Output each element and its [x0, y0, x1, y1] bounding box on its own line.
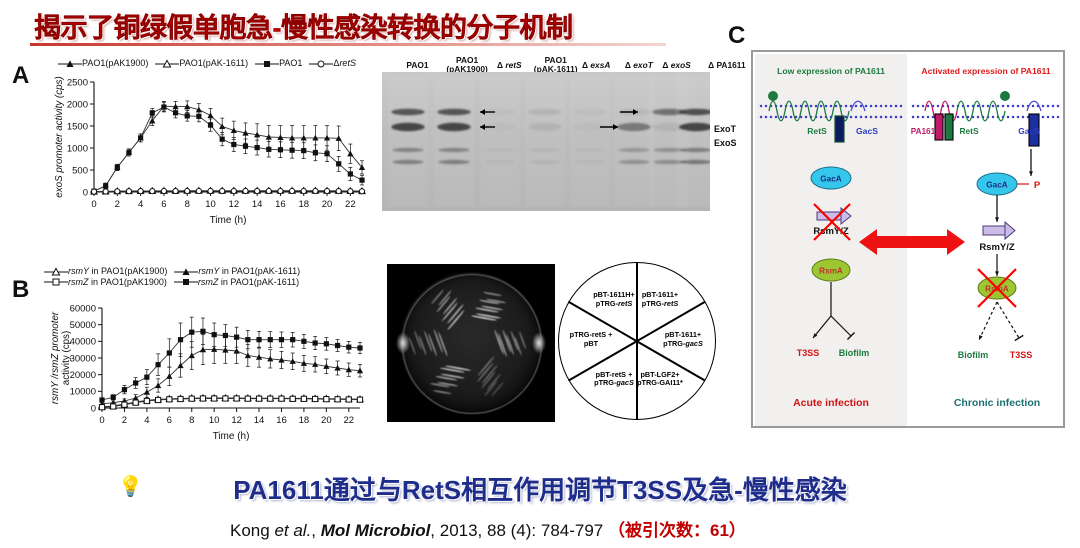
svg-text:Biofilm: Biofilm: [958, 350, 989, 360]
conclusion-title: PA1611通过与RetS相互作用调节T3SS及急-慢性感染: [120, 470, 960, 504]
svg-text:T3SS: T3SS: [1010, 350, 1033, 360]
svg-text:20: 20: [322, 199, 333, 210]
legend-item: rsmZ in PAO1(pAK-1611): [174, 277, 299, 288]
svg-text:2: 2: [115, 199, 120, 210]
legend-item: rsmY in PAO1(pAK1900): [44, 266, 167, 277]
svg-text:0: 0: [91, 199, 96, 210]
svg-text:60000: 60000: [70, 303, 96, 314]
svg-text:16: 16: [275, 199, 286, 210]
svg-text:50000: 50000: [70, 320, 96, 331]
svg-text:10: 10: [205, 199, 216, 210]
svg-text:Chronic infection: Chronic infection: [954, 397, 1040, 409]
svg-text:Acute infection: Acute infection: [793, 397, 869, 409]
svg-text:Biofilm: Biofilm: [839, 348, 870, 358]
svg-text:14: 14: [252, 199, 263, 210]
citation-rest: , 2013, 88 (4): 784-797: [430, 521, 608, 540]
chart-b-legend: rsmY in PAO1(pAK1900)rsmY in PAO1(pAK-16…: [44, 266, 384, 287]
citation-etal: et al.: [274, 521, 311, 540]
dish-rim: [402, 274, 542, 414]
gel-bands: [382, 72, 710, 211]
svg-text:6: 6: [167, 415, 172, 426]
citation-sep: ,: [311, 521, 320, 540]
svg-text:RsmY/Z: RsmY/Z: [979, 242, 1015, 253]
svg-text:1000: 1000: [67, 143, 88, 154]
legend-label: PAO1(pAK1900): [82, 58, 148, 68]
svg-text:RsmA: RsmA: [819, 267, 843, 276]
gel-band-labels: ExoTExoS: [714, 124, 737, 152]
panel-label-b: B: [12, 276, 29, 304]
svg-text:10000: 10000: [70, 387, 96, 398]
center-double-arrow-icon: [857, 222, 967, 262]
svg-text:GacS: GacS: [856, 126, 878, 136]
title-underline: [30, 43, 666, 46]
model-diagram: Low expression of PA1611 RetSGacSGacARsm…: [751, 50, 1065, 428]
legend-item: rsmZ in PAO1(pAK1900): [44, 277, 167, 288]
sector-label: pBT-retS +pTRG-gacS: [579, 371, 649, 388]
svg-text:6: 6: [161, 199, 166, 210]
gel-band-label: ExoT: [714, 124, 737, 134]
legend-item: ΔretS: [309, 58, 356, 69]
panel-label-c: C: [728, 22, 745, 50]
svg-text:20000: 20000: [70, 370, 96, 381]
gel-lane-label: Δ exoS: [653, 61, 701, 70]
legend-label: rsmZ in PAO1(pAK-1611): [198, 277, 299, 287]
svg-text:40000: 40000: [70, 337, 96, 348]
svg-text:PA1611: PA1611: [911, 127, 940, 136]
svg-text:Time (h): Time (h): [210, 215, 247, 226]
svg-text:8: 8: [185, 199, 190, 210]
svg-text:RetS: RetS: [959, 126, 978, 136]
svg-text:GacA: GacA: [986, 181, 1007, 190]
svg-text:exoS promoter activity (cps): exoS promoter activity (cps): [54, 76, 65, 197]
svg-text:18: 18: [299, 415, 310, 426]
svg-text:GacA: GacA: [820, 175, 841, 184]
legend-item: PAO1(pAK1900): [58, 58, 148, 69]
svg-text:2000: 2000: [67, 99, 88, 110]
chart-a-exos-promoter: 050010001500200025000246810121416182022T…: [48, 74, 378, 234]
svg-text:20: 20: [321, 415, 332, 426]
svg-text:18: 18: [298, 199, 309, 210]
slide-canvas: 揭示了铜绿假单胞急-慢性感染转换的分子机制 A PAO1(pAK1900)PAO…: [0, 0, 1080, 548]
citation-count: （被引次数：61）: [608, 521, 746, 540]
legend-label: PAO1: [279, 58, 302, 68]
legend-label: ΔretS: [333, 58, 356, 68]
petri-dish: [400, 272, 542, 414]
svg-text:2500: 2500: [67, 77, 88, 88]
svg-text:rsmY /rsmZ promoter: rsmY /rsmZ promoter: [50, 311, 61, 404]
svg-text:activity (cps): activity (cps): [61, 331, 72, 385]
legend-label: rsmZ in PAO1(pAK1900): [68, 277, 167, 287]
sector-label: pTRG-retS +pBT: [556, 331, 626, 348]
chart-b-rsmyz-promoter: 0100002000030000400005000060000024681012…: [40, 300, 380, 448]
svg-text:22: 22: [343, 415, 354, 426]
gel-lane-label: PAO1: [393, 61, 441, 70]
legend-item: PAO1: [255, 58, 302, 69]
page-title: 揭示了铜绿假单胞急-慢性感染转换的分子机制: [34, 6, 654, 42]
legend-item: rsmY in PAO1(pAK-1611): [174, 266, 300, 277]
svg-text:4: 4: [144, 415, 149, 426]
svg-text:T3SS: T3SS: [797, 348, 820, 358]
citation-line: Kong et al., Mol Microbiol, 2013, 88 (4)…: [230, 516, 1070, 541]
svg-text:0: 0: [99, 415, 104, 426]
gel-lane-label: Δ exsA: [572, 61, 620, 70]
sector-label: pBT-1611H+pTRG-retS: [579, 291, 649, 308]
chart-a-legend: PAO1(pAK1900)PAO1(pAK-1611)PAO1ΔretS: [58, 58, 378, 69]
plate-sector-key: pBT-1611+pTRG-retSpBT-1611+pTRG-gacSpBT-…: [558, 262, 720, 424]
svg-text:Time (h): Time (h): [213, 431, 250, 442]
svg-text:GacS: GacS: [1018, 126, 1040, 136]
citation-author: Kong: [230, 521, 274, 540]
svg-text:0: 0: [91, 403, 96, 414]
citation-journal: Mol Microbiol: [321, 521, 431, 540]
panel-label-a: A: [12, 62, 29, 90]
gel-band-label: ExoS: [714, 138, 737, 148]
svg-text:22: 22: [345, 199, 356, 210]
svg-text:30000: 30000: [70, 353, 96, 364]
svg-text:12: 12: [229, 199, 240, 210]
svg-text:4: 4: [138, 199, 143, 210]
legend-label: PAO1(pAK-1611): [179, 58, 248, 68]
svg-text:14: 14: [254, 415, 265, 426]
svg-text:P: P: [1034, 180, 1041, 191]
svg-text:1500: 1500: [67, 121, 88, 132]
legend-label: rsmY in PAO1(pAK1900): [68, 266, 167, 276]
svg-text:0: 0: [83, 187, 88, 198]
svg-text:12: 12: [231, 415, 242, 426]
svg-text:10: 10: [209, 415, 220, 426]
legend-item: PAO1(pAK-1611): [155, 58, 248, 69]
petri-dish-photo: [387, 264, 555, 422]
svg-text:500: 500: [72, 165, 88, 176]
sector-label: pBT-1611+pTRG-gacS: [648, 331, 718, 348]
svg-text:RetS: RetS: [807, 126, 827, 136]
svg-text:16: 16: [276, 415, 287, 426]
sds-page-gel-image: [382, 72, 710, 211]
gel-lane-label: Δ PA1611: [697, 61, 757, 70]
svg-text:8: 8: [189, 415, 194, 426]
legend-label: rsmY in PAO1(pAK-1611): [198, 266, 300, 276]
svg-text:2: 2: [122, 415, 127, 426]
